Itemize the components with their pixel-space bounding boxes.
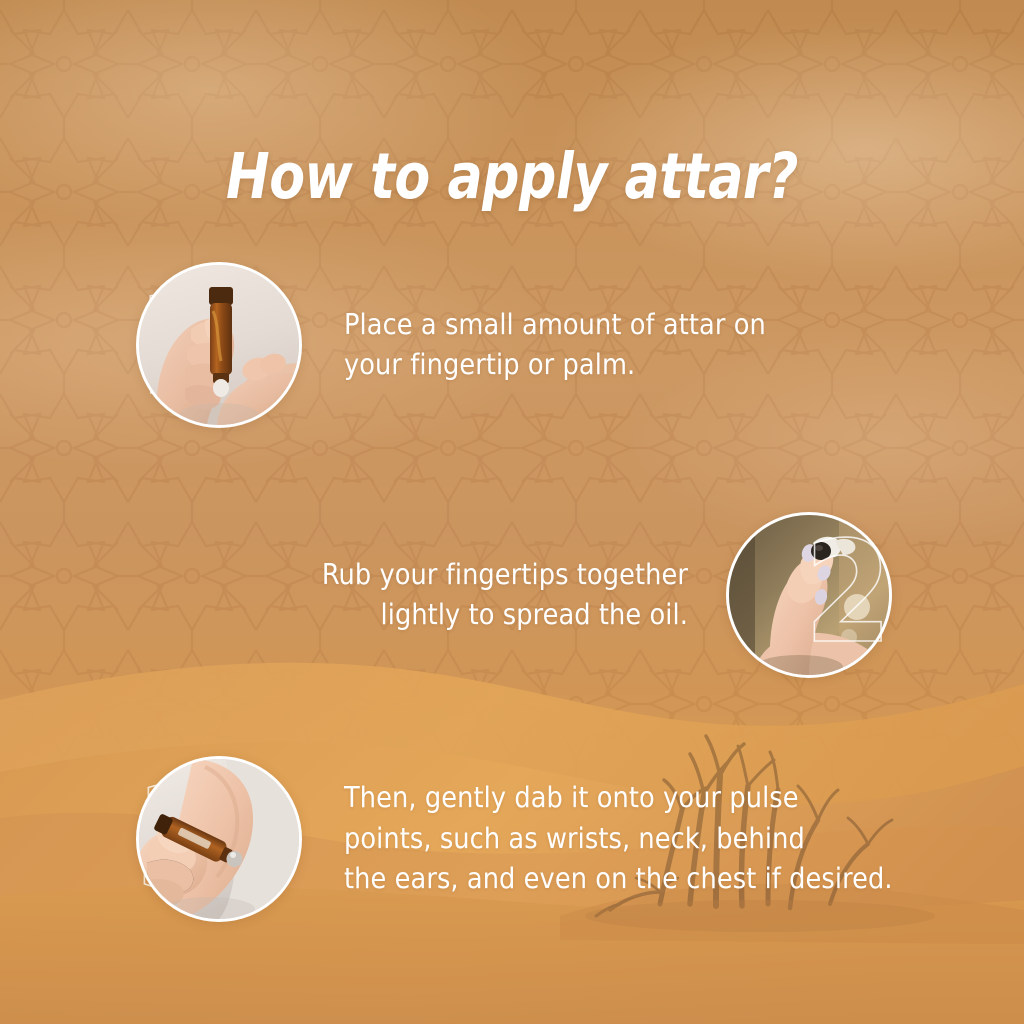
- step-1-photo: [136, 262, 302, 428]
- step-2-photo: [726, 512, 892, 678]
- step-3-text: Then, gently dab it onto your pulse poin…: [344, 778, 893, 899]
- step-1-text: Place a small amount of attar on your fi…: [344, 305, 766, 386]
- step-2: Rub your fingertips together lightly to …: [232, 512, 892, 678]
- step-2-text: Rub your fingertips together lightly to …: [232, 555, 688, 636]
- poster-canvas: How to apply attar? 1: [0, 0, 1024, 1024]
- step-3-photo: [136, 756, 302, 922]
- step-1: 1: [136, 262, 896, 428]
- page-title: How to apply attar?: [41, 140, 983, 213]
- step-3: 3: [136, 756, 966, 922]
